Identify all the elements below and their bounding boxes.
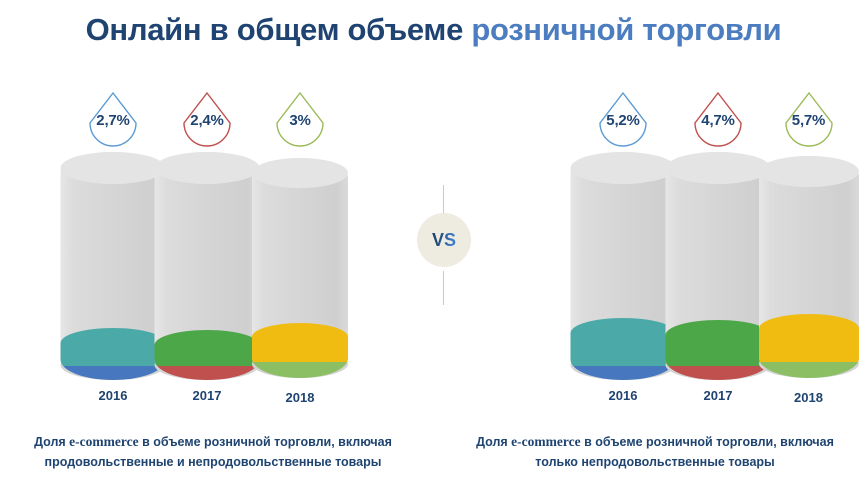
cylinder-fill-surface (61, 328, 166, 358)
cylinder-body (666, 152, 771, 380)
value-label: 4,7% (688, 112, 748, 129)
cylinder-top-ellipse (666, 152, 771, 184)
cylinder-fill (61, 328, 166, 380)
year-label: 2016 (99, 388, 128, 403)
chart-column-right-2016[interactable]: 5,2% 2016 (568, 90, 678, 410)
year-label: 2017 (193, 388, 222, 403)
caption-left-pre: Доля (34, 435, 69, 449)
value-droplet-badge: 3% (270, 90, 330, 156)
cylinder-body (61, 152, 166, 380)
value-label: 5,2% (593, 112, 653, 129)
cylinder-top-ellipse (252, 158, 348, 188)
cylinder-top-ellipse (155, 152, 260, 184)
value-label: 2,4% (177, 112, 237, 129)
cylinder (252, 158, 348, 378)
cylinder-body (252, 158, 348, 378)
cylinder-fill-surface (155, 330, 260, 360)
cylinder-fill (571, 318, 676, 380)
cylinder (61, 152, 166, 380)
value-droplet-badge: 2,4% (177, 90, 237, 156)
cylinder-top-ellipse (571, 152, 676, 184)
caption-right-term: e-commerce (511, 434, 580, 449)
cylinder-fill-surface (571, 318, 676, 348)
year-label: 2016 (609, 388, 638, 403)
cylinder-body (759, 156, 859, 378)
caption-left: Доля e-commerce в объеме розничной торго… (18, 432, 408, 472)
value-label: 3% (270, 112, 330, 129)
cylinder-body (155, 152, 260, 380)
value-label: 5,7% (779, 112, 839, 129)
cylinder-fill (155, 330, 260, 380)
value-label: 2,7% (83, 112, 143, 129)
caption-right-post: в объеме розничной торговли, включая тол… (535, 435, 834, 469)
value-droplet-badge: 2,7% (83, 90, 143, 156)
value-droplet-badge: 5,7% (779, 90, 839, 156)
cylinder-top-ellipse (759, 156, 859, 187)
cylinder (155, 152, 260, 380)
chart-stage: 2,7% 2016 2,4% (0, 0, 867, 502)
cylinder-body (571, 152, 676, 380)
cylinder (666, 152, 771, 380)
cylinder (571, 152, 676, 380)
vs-label: VS (432, 230, 456, 251)
caption-right-pre: Доля (476, 435, 511, 449)
year-label: 2018 (286, 390, 315, 405)
divider-line-bottom (443, 271, 444, 305)
value-droplet-badge: 5,2% (593, 90, 653, 156)
year-label: 2017 (704, 388, 733, 403)
cylinder-top-ellipse (61, 152, 166, 184)
cylinder-fill (666, 320, 771, 380)
year-label: 2018 (794, 390, 823, 405)
cylinder-fill-surface (252, 323, 348, 351)
chart-group-left: 2,7% 2016 2,4% (40, 90, 370, 410)
value-droplet-badge: 4,7% (688, 90, 748, 156)
caption-right: Доля e-commerce в объеме розничной торго… (460, 432, 850, 472)
cylinder-fill-surface (666, 320, 771, 350)
cylinder-fill (252, 323, 348, 378)
vs-badge: VS (417, 213, 471, 267)
cylinder-fill-surface (759, 314, 859, 343)
chart-column-right-2018[interactable]: 5,7% 2018 (756, 90, 861, 410)
cylinder-fill (759, 314, 859, 378)
caption-left-term: e-commerce (69, 434, 138, 449)
chart-column-left-2018[interactable]: 3% 2018 (245, 90, 355, 410)
chart-group-right: 5,2% 2016 4,7% (560, 90, 860, 410)
cylinder (759, 156, 859, 378)
vs-divider: VS (443, 185, 445, 305)
